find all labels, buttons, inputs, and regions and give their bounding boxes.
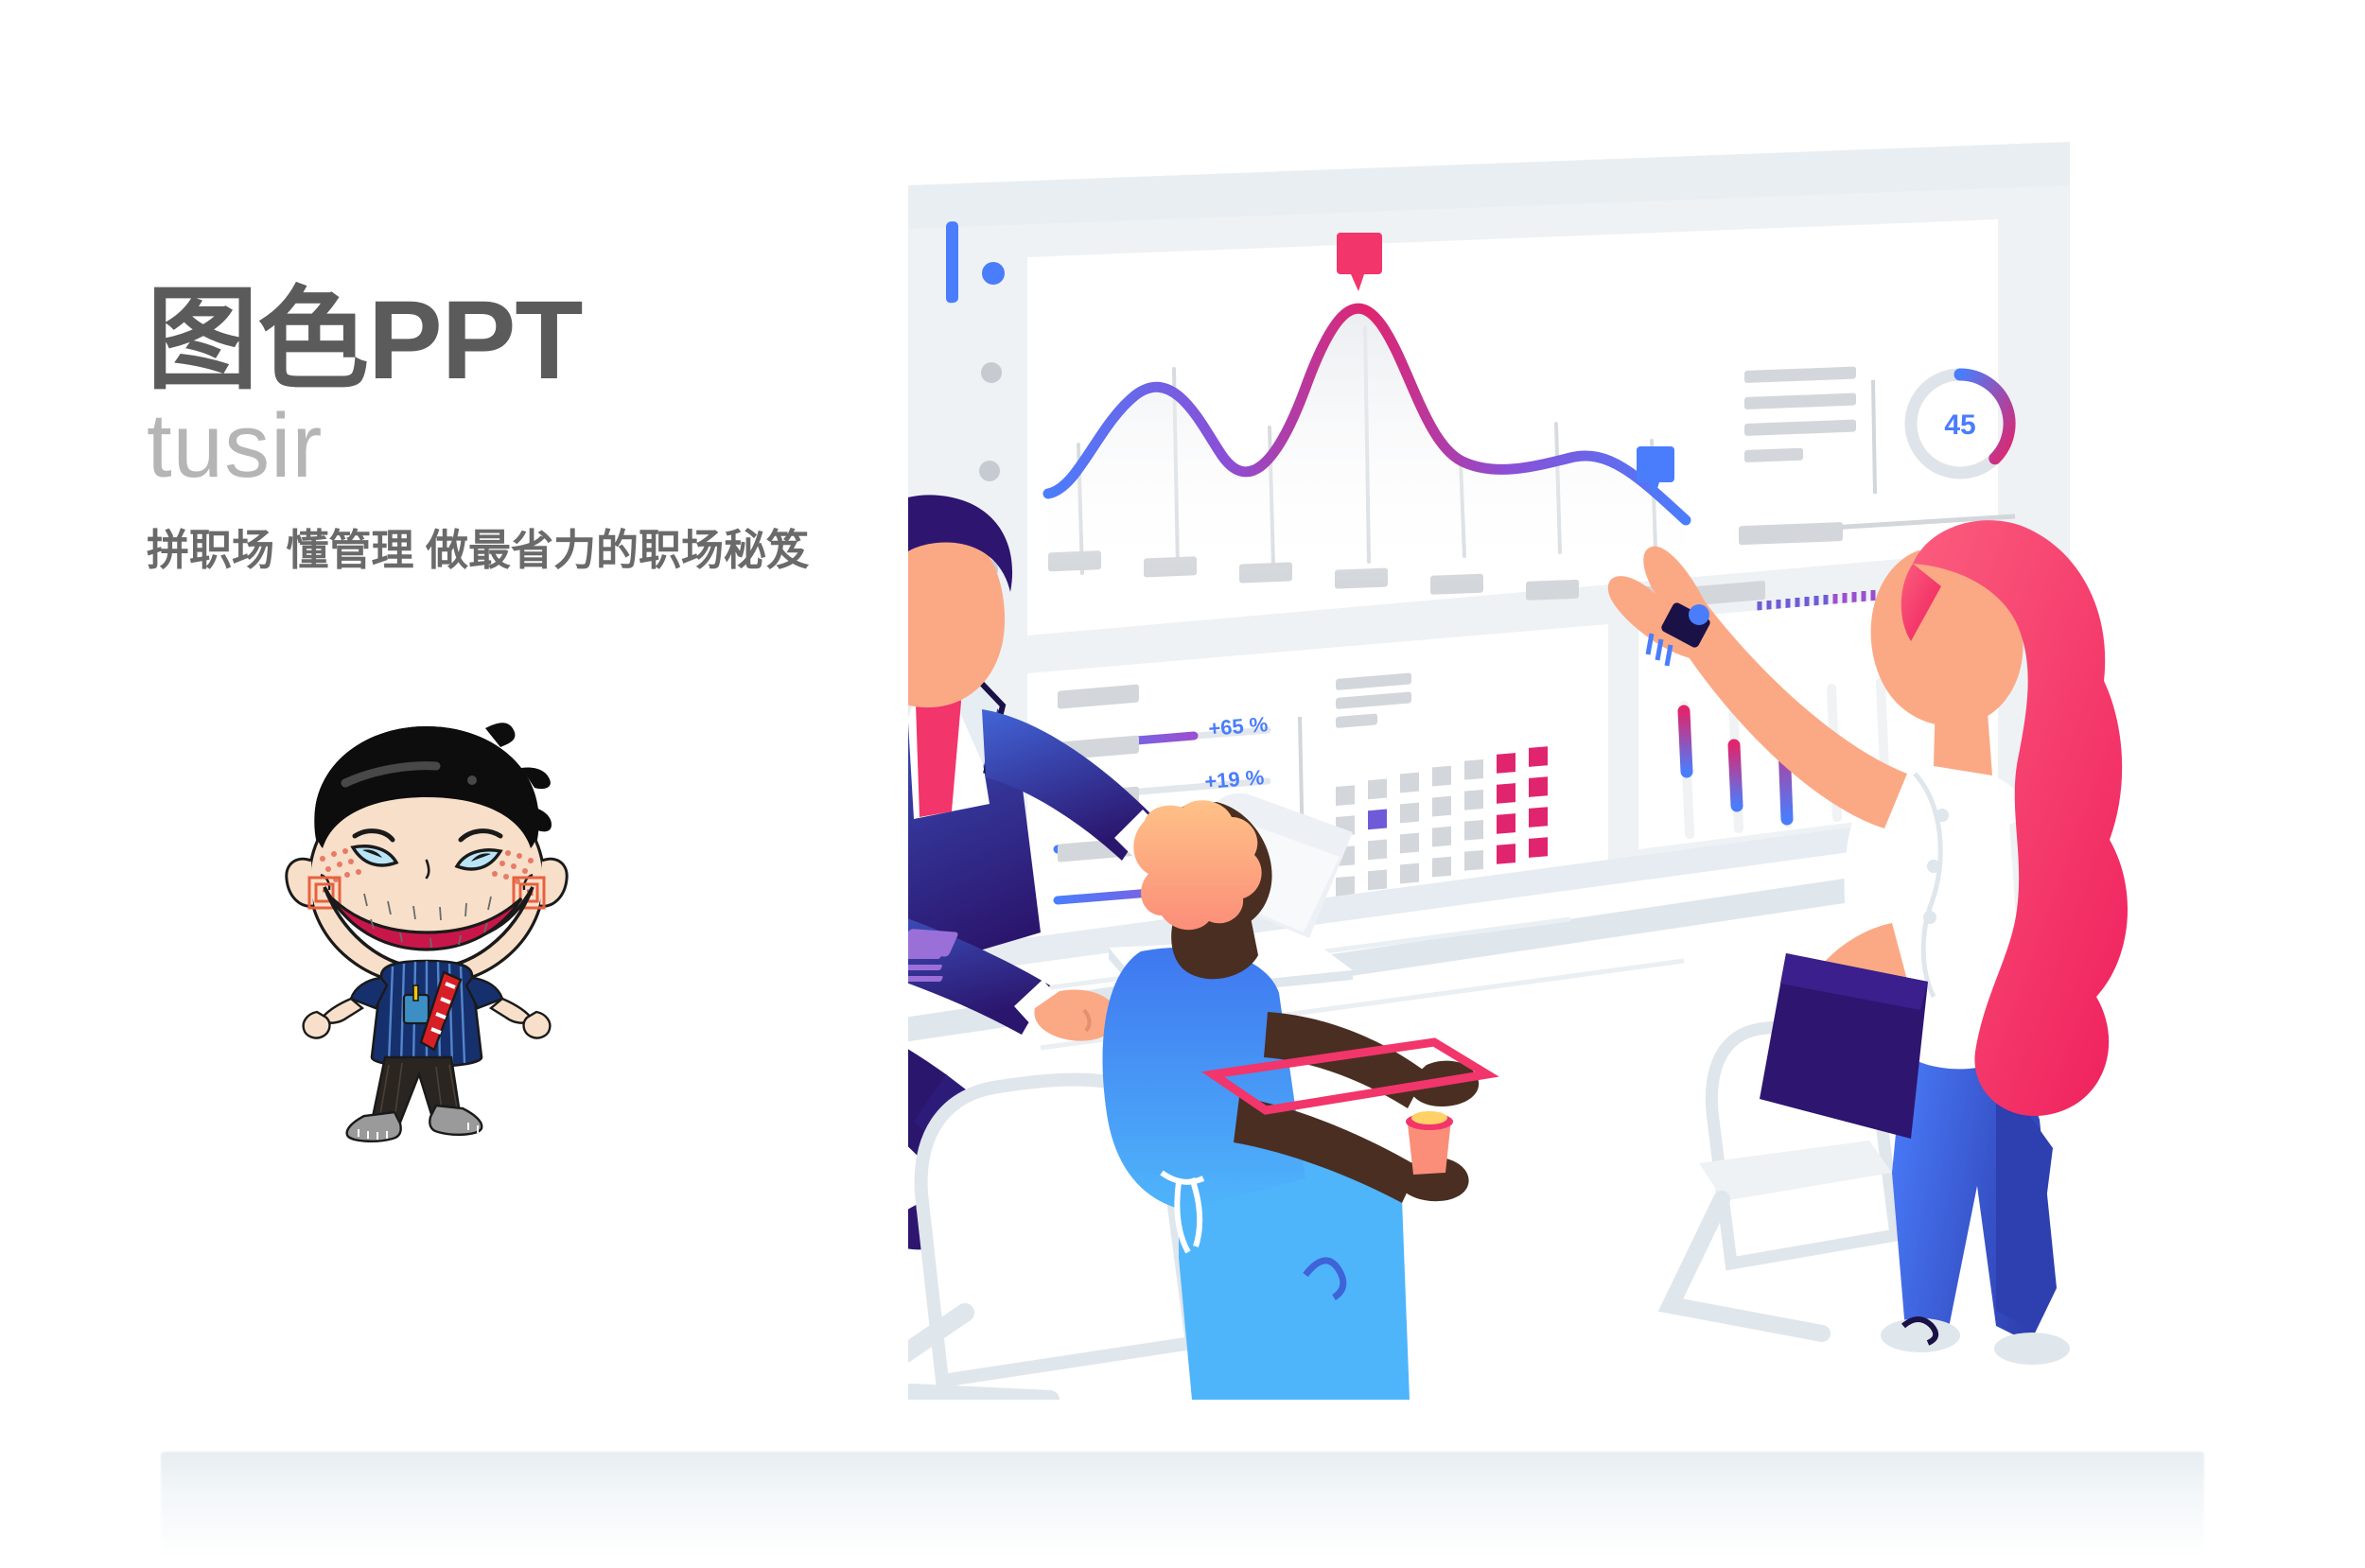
seated-person-top (1103, 948, 1306, 1211)
nav-dot-2[interactable] (981, 362, 1002, 383)
nav-dot-1[interactable] (982, 262, 1005, 285)
mascot-pen (413, 985, 418, 1001)
page-title: 图色PPT (147, 284, 903, 397)
mascot-shoe-left (347, 1112, 401, 1141)
slide-canvas: 图色PPT tusir 拼职场 懂管理 做最省力的职场秘笈 (0, 0, 2365, 1568)
mascot-shoe-right (429, 1106, 482, 1135)
brand-subtitle: tusir (147, 401, 903, 492)
ground-shadow (161, 1452, 2204, 1556)
woman-button-2 (1927, 860, 1940, 873)
mascot-illustration (241, 719, 610, 1144)
sidebar-active-bar (946, 221, 958, 303)
office-meeting-illustration: 45 (908, 142, 2289, 1400)
donut-value: 45 (1944, 409, 1975, 441)
kpi-divider (1873, 380, 1875, 494)
progress-value-1: +65 % (1207, 712, 1269, 740)
woman-button-1 (1936, 809, 1949, 822)
woman-button-3 (1923, 911, 1936, 924)
brand-block: 图色PPT tusir 拼职场 懂管理 做最省力的职场秘笈 (147, 284, 903, 578)
brand-tagline: 拼职场 懂管理 做最省力的职场秘笈 (147, 524, 903, 577)
coffee-cup (1406, 1111, 1453, 1175)
woman-shoe-front (1881, 1318, 1960, 1352)
woman-shoe-back (1994, 1333, 2070, 1365)
nav-dot-3[interactable] (979, 461, 1000, 481)
progress-value-2: +19 % (1203, 765, 1265, 793)
